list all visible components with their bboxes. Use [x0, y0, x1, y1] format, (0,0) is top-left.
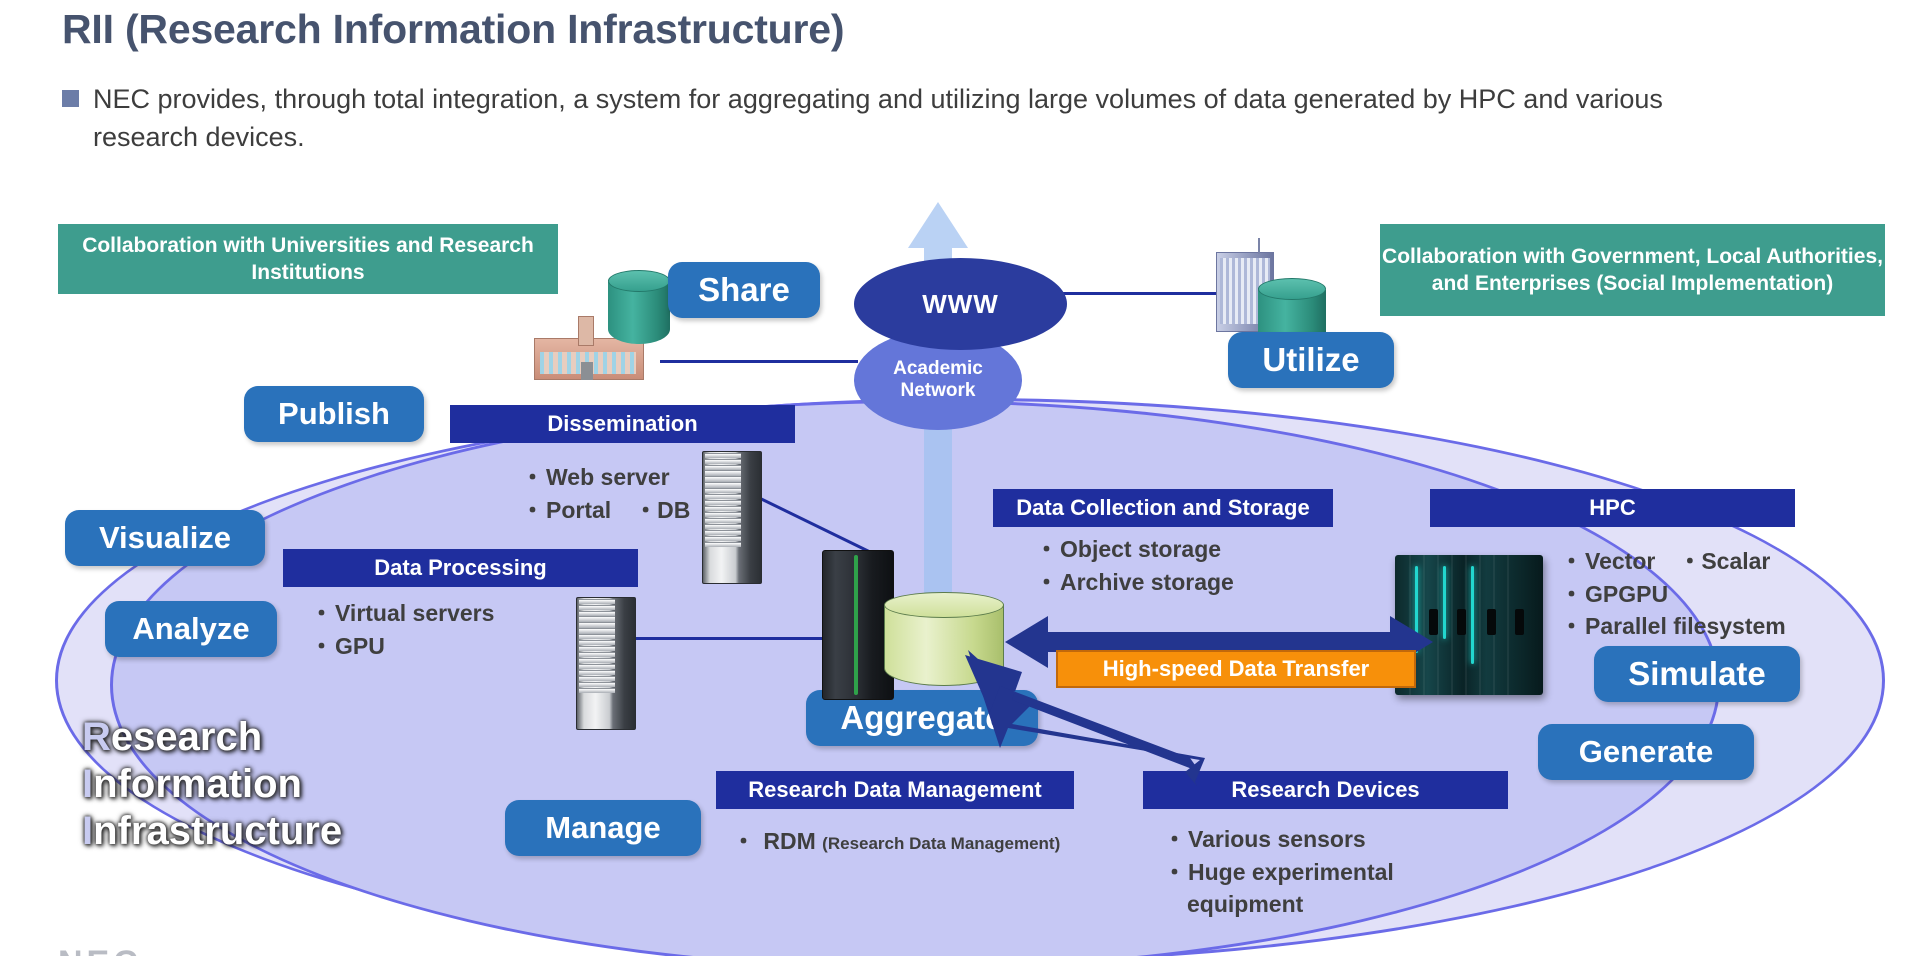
watermark-line-3: Infrastructure: [82, 808, 342, 855]
list-item: GPU: [310, 630, 494, 663]
banner-high-speed-data-transfer: High-speed Data Transfer: [1056, 650, 1416, 688]
pill-manage[interactable]: Manage: [505, 800, 701, 856]
rdm-expansion: (Research Data Management): [822, 834, 1060, 853]
details-research-devices: Various sensors Huge experimental equipm…: [1163, 823, 1394, 921]
section-header-dissemination: Dissemination: [450, 405, 795, 443]
rdm-acronym: RDM: [763, 828, 815, 854]
aggregate-datalake-icon: [884, 592, 1004, 686]
watermark-rest-information: nformation: [93, 762, 302, 806]
line-dataproc-to-aggregate: [624, 637, 854, 640]
list-item: Portal ・DB: [521, 494, 690, 527]
page-title: RII (Research Information Infrastructure…: [62, 6, 844, 53]
callout-universities: Collaboration with Universities and Rese…: [58, 224, 558, 294]
watermark-cap-i1: I: [82, 762, 93, 806]
section-header-research-devices: Research Devices: [1143, 771, 1508, 809]
details-data-processing: Virtual servers GPU: [310, 597, 494, 662]
list-item: GPGPU: [1560, 578, 1786, 611]
pill-share[interactable]: Share: [668, 262, 820, 318]
pill-utilize[interactable]: Utilize: [1228, 332, 1394, 388]
pill-visualize[interactable]: Visualize: [65, 510, 265, 566]
watermark-cap-r: R: [82, 715, 111, 759]
details-research-data-management: RDM (Research Data Management): [732, 825, 1060, 858]
nec-logo: NEC: [58, 944, 142, 956]
watermark-rest-infrastructure: nfrastructure: [93, 809, 342, 853]
list-item: Vector ・Scalar: [1560, 545, 1786, 578]
academic-network-label-1: Academic Network: [854, 358, 1022, 402]
pill-simulate[interactable]: Simulate: [1594, 646, 1800, 702]
details-hpc: Vector ・Scalar GPGPU Parallel filesystem: [1560, 545, 1786, 643]
rii-watermark: Research Information Infrastructure: [82, 714, 342, 856]
list-item: Various sensors: [1163, 823, 1394, 856]
list-item: Archive storage: [1035, 566, 1234, 599]
square-bullet-icon: [62, 90, 79, 107]
list-item: Huge experimental: [1163, 856, 1394, 889]
callout-government: Collaboration with Government, Local Aut…: [1380, 224, 1885, 316]
section-header-research-data-management: Research Data Management: [716, 771, 1074, 809]
hpc-supercomputer-icon: [1395, 555, 1543, 695]
watermark-rest-research: esearch: [111, 715, 262, 759]
slide-canvas: RII (Research Information Infrastructure…: [0, 0, 1920, 956]
details-data-collection: Object storage Archive storage: [1035, 533, 1234, 598]
pill-publish[interactable]: Publish: [244, 386, 424, 442]
header-bullet-text: NEC provides, through total integration,…: [93, 80, 1762, 157]
pill-generate[interactable]: Generate: [1538, 724, 1754, 780]
section-header-data-processing: Data Processing: [283, 549, 638, 587]
list-item: Virtual servers: [310, 597, 494, 630]
pill-analyze[interactable]: Analyze: [105, 601, 277, 657]
line-univ-to-www: [660, 360, 858, 363]
header-bullet-row: NEC provides, through total integration,…: [62, 80, 1762, 157]
processing-server-rack-icon: [576, 597, 636, 730]
list-item: Parallel filesystem: [1560, 610, 1786, 643]
list-item: Object storage: [1035, 533, 1234, 566]
watermark-line-1: Research: [82, 714, 342, 761]
list-item: RDM (Research Data Management): [732, 825, 1060, 858]
watermark-cap-i2: I: [82, 809, 93, 853]
details-dissemination: Web server Portal ・DB: [521, 461, 690, 526]
www-node: WWW: [854, 258, 1067, 350]
list-item: Web server: [521, 461, 690, 494]
section-header-data-collection: Data Collection and Storage: [993, 489, 1333, 527]
list-item: equipment: [1163, 888, 1394, 921]
shared-database-icon-left: [608, 270, 670, 344]
watermark-line-2: Information: [82, 761, 342, 808]
section-header-hpc: HPC: [1430, 489, 1795, 527]
web-server-rack-icon: [702, 451, 762, 584]
